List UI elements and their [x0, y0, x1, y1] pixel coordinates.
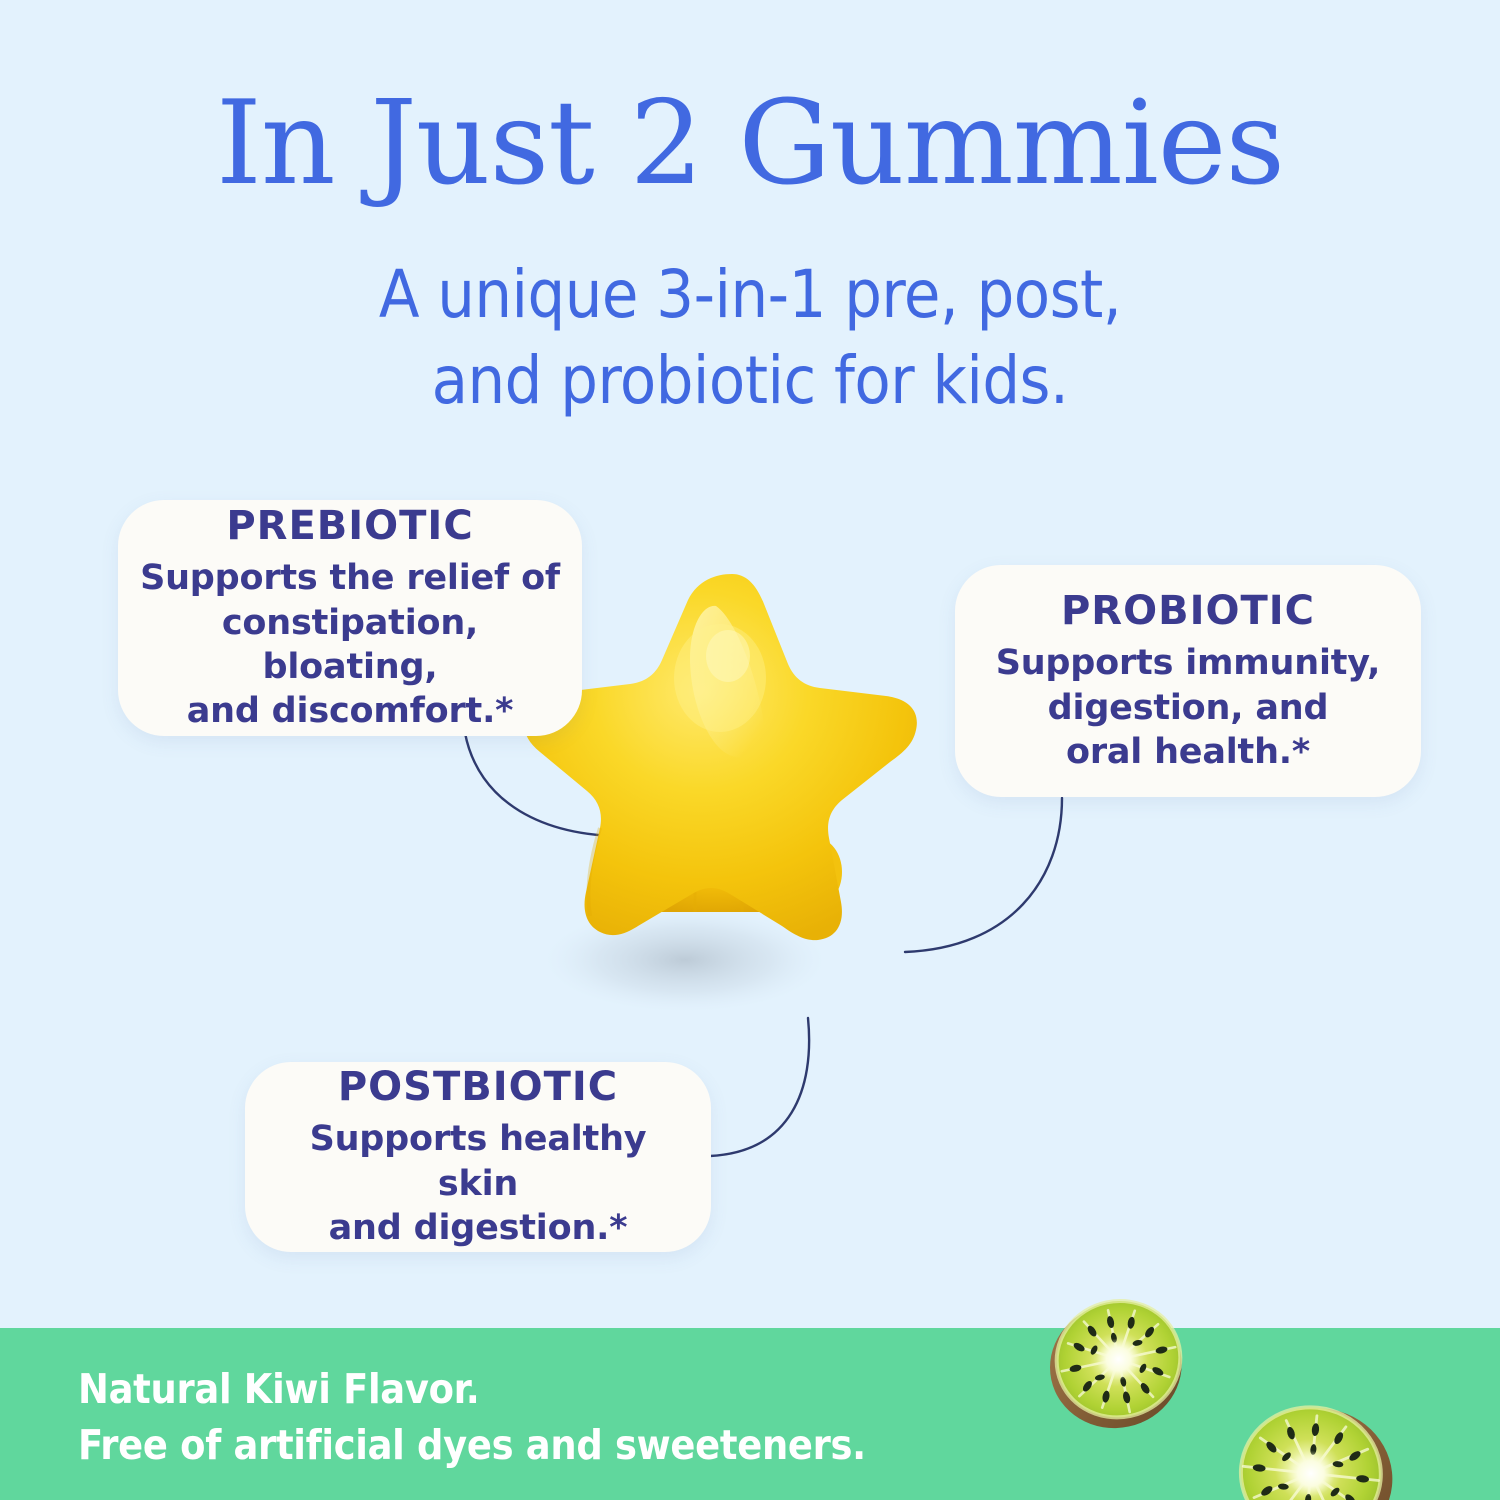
gummy-product-image [520, 560, 980, 1060]
fact-card-prebiotic-body: Supports the relief of constipation, blo… [140, 556, 560, 732]
flavor-banner-line-2: Free of artificial dyes and sweeteners. [78, 1418, 866, 1474]
flavor-banner-text: Natural Kiwi Flavor. Free of artificial … [78, 1362, 866, 1474]
fact-card-probiotic-body: Supports immunity, digestion, and oral h… [977, 641, 1399, 773]
fact-card-postbiotic-title: POSTBIOTIC [267, 1064, 689, 1111]
page-subtitle-line-2: and probiotic for kids. [0, 338, 1500, 424]
fact-card-prebiotic-title: PREBIOTIC [140, 503, 560, 550]
fact-card-postbiotic-line-1: Supports healthy skin [267, 1117, 689, 1205]
page-title: In Just 2 Gummies [0, 86, 1500, 202]
fact-card-probiotic: PROBIOTIC Supports immunity, digestion, … [955, 565, 1421, 797]
fact-card-prebiotic: PREBIOTIC Supports the relief of constip… [118, 500, 582, 736]
fact-card-probiotic-line-3: oral health.* [977, 730, 1399, 774]
kiwi-slice-icon-2 [1224, 1390, 1409, 1500]
fact-card-prebiotic-line-3: and discomfort.* [140, 689, 560, 733]
fact-card-probiotic-line-2: digestion, and [977, 686, 1399, 730]
fact-card-postbiotic: POSTBIOTIC Supports healthy skin and dig… [245, 1062, 711, 1252]
page-subtitle: A unique 3-in-1 pre, post, and probiotic… [0, 252, 1500, 424]
infographic-canvas: In Just 2 Gummies A unique 3-in-1 pre, p… [0, 0, 1500, 1500]
kiwi-slice-icon-1 [1020, 1267, 1210, 1457]
fact-card-postbiotic-line-2: and digestion.* [267, 1206, 689, 1250]
fact-card-prebiotic-line-2: constipation, bloating, [140, 601, 560, 689]
fact-card-prebiotic-line-1: Supports the relief of [140, 556, 560, 600]
star-gummy [524, 574, 917, 940]
fact-card-postbiotic-body: Supports healthy skin and digestion.* [267, 1117, 689, 1249]
fact-card-probiotic-title: PROBIOTIC [977, 588, 1399, 635]
flavor-banner-line-1: Natural Kiwi Flavor. [78, 1362, 866, 1418]
page-subtitle-line-1: A unique 3-in-1 pre, post, [0, 252, 1500, 338]
fact-card-probiotic-line-1: Supports immunity, [977, 641, 1399, 685]
